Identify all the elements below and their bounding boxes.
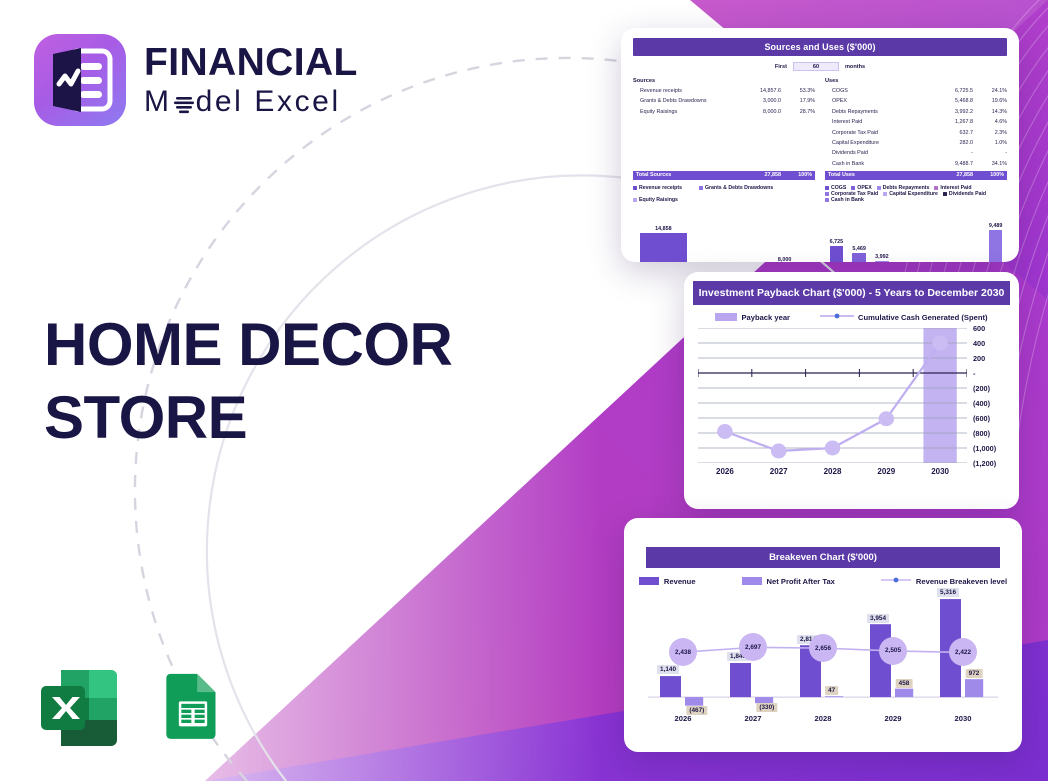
payback-x-tick: 2028 [806,467,860,476]
card-investment-payback: Investment Payback Chart ($'000) - 5 Yea… [684,272,1019,509]
uses-bar-label: 9,489 [989,223,1003,229]
uses-bar: 6,725 [830,234,844,262]
uses-legend-swatch [934,186,938,190]
uses-bar-bar [830,246,844,262]
sources-row-value: 8,000.0 [735,107,781,117]
uses-row: Interest Paid1,267.84.6% [825,117,1007,127]
uses-row-value: 282.0 [927,138,973,148]
breakeven-x-axis: 20262027202820292030 [648,714,998,723]
sources-total-label: Total Sources [633,171,735,180]
uses-legend-swatch [877,186,881,190]
uses-row: Corporate Tax Paid632.72.3% [825,128,1007,138]
breakeven-npat-label: 47 [825,686,838,695]
table-spacer [633,128,815,138]
sources-row: Equity Raisings8,000.028.7% [633,107,815,117]
breakeven-legend-swatch [639,577,659,585]
breakeven-legend-label: Net Profit After Tax [767,577,835,586]
uses-row-pct: 4.6% [973,117,1007,127]
page-title: HOME DECOR STORE [44,308,474,454]
uses-bar-chart: 6,7255,4693,9921,26863328209,489 [825,206,1007,262]
uses-bar: 9,489 [989,218,1003,262]
payback-legend: Payback yearCumulative Cash Generated (S… [684,312,1019,322]
card-sources-and-uses: Sources and Uses ($'000) First 60 months… [621,28,1019,262]
uses-row-name: Debts Repayments [825,107,927,117]
breakeven-legend-item: Net Profit After Tax [742,576,835,586]
sources-row-pct: 53.3% [781,86,815,96]
payback-y-tick: (1,000) [973,444,996,453]
sources-legend-item: Equity Raisings [633,197,678,203]
payback-y-tick: (600) [973,414,990,423]
uses-bar-label: 6,725 [830,239,844,245]
table-spacer [633,148,815,158]
breakeven-level-bubble: 2,438 [669,638,697,666]
uses-legend-swatch [825,186,829,190]
sources-legend-label: Revenue receipts [639,185,682,191]
sources-bar-label: 8,000 [761,257,808,262]
breakeven-level-bubble: 2,505 [879,637,907,665]
breakeven-legend: RevenueNet Profit After TaxRevenue Break… [624,576,1022,586]
breakeven-legend-item: Revenue [639,576,696,586]
sources-chart: Revenue receiptsGrants & Debts Drawdowns… [633,185,815,262]
payback-x-tick: 2029 [859,467,913,476]
uses-legend-item: Cash in Bank [825,197,864,203]
uses-row: Debts Repayments3,992.214.3% [825,107,1007,117]
google-sheets-icon[interactable] [153,660,233,761]
breakeven-npat-label: 972 [966,669,983,678]
payback-legend-item: Cumulative Cash Generated (Spent) [820,312,988,322]
payback-y-axis: 600400200-(200)(400)(600)(800)(1,000)(1,… [969,328,1015,463]
uses-total-value: 27,858 [927,171,973,180]
uses-row: Capital Expenditure282.01.0% [825,138,1007,148]
uses-legend-swatch [825,192,829,196]
uses-row-pct: 1.0% [973,138,1007,148]
uses-total-label: Total Uses [825,171,927,180]
uses-row-value: - [927,148,973,158]
payback-x-tick: 2030 [913,467,967,476]
breakeven-legend-label: Revenue [664,577,696,586]
breakeven-level-bubble: 2,656 [809,634,837,662]
breakeven-npat-label: (330) [756,703,777,712]
breakeven-revenue-label: 3,954 [867,614,889,623]
payback-y-tick: 200 [973,354,985,363]
payback-plot: 600400200-(200)(400)(600)(800)(1,000)(1,… [698,328,967,463]
payback-legend-swatch [820,312,854,322]
table-spacer [633,138,815,148]
uses-row: COGS6,725.524.1% [825,86,1007,96]
sources-bar-label: 14,858 [640,226,687,232]
sources-row-name: Revenue receipts [633,86,735,96]
uses-row-value: 6,725.5 [927,86,973,96]
payback-legend-label: Payback year [741,313,790,322]
sources-chart-legend: Revenue receiptsGrants & Debts Drawdowns… [633,185,815,203]
legend-gap [688,185,693,191]
sources-legend-item: Revenue receipts [633,185,682,191]
payback-legend-swatch [715,313,737,321]
breakeven-plot: 1,1401,8482,8143,9545,316(467)(330)47458… [648,592,998,710]
sources-bar-chart: 14,8585,0008,000 [633,208,815,262]
uses-legend-label: Capital Expenditure [889,191,938,197]
payback-x-axis: 20262027202820292030 [698,467,967,476]
uses-bar-label: 3,992 [875,254,889,260]
breakeven-x-tick: 2029 [858,714,928,723]
supported-apps [31,660,233,761]
sources-heading: Sources [633,78,815,84]
breakeven-npat-label: 458 [896,679,913,688]
table-spacer [633,117,815,127]
sources-total-value: 27,858 [735,171,781,180]
uses-chart: COGSOPEXDebts RepaymentsInterest PaidCor… [825,185,1007,262]
uses-legend-item: Capital Expenditure [883,191,938,197]
card-breakeven: Breakeven Chart ($'000) RevenueNet Profi… [624,518,1022,752]
uses-legend-label: Cash in Bank [831,197,864,203]
sources-legend-label: Grants & Debts Drawdowns [705,185,773,191]
legend-gap [684,197,689,203]
brand-line2-suffix: del Excel [196,87,341,117]
period-selector: First 60 months [633,62,1007,71]
uses-row-value: 1,267.8 [927,117,973,127]
sources-legend-swatch [633,186,637,190]
uses-legend-item: Dividends Paid [943,191,986,197]
uses-row-pct: 34.1% [973,159,1007,169]
payback-y-tick: (800) [973,429,990,438]
uses-row-name: Corporate Tax Paid [825,128,927,138]
brand-name-line1: FINANCIAL [144,43,358,82]
uses-row-value: 5,468.8 [927,96,973,106]
uses-row-value: 632.7 [927,128,973,138]
uses-row-name: Dividends Paid [825,148,927,158]
uses-bar: 5,469 [852,241,866,262]
sources-uses-tables: Sources Revenue receipts14,857.653.3%Gra… [633,78,1007,180]
payback-legend-item: Payback year [715,313,790,322]
uses-legend-swatch [851,186,855,190]
uses-row-value: 3,992.2 [927,107,973,117]
sources-row-pct: 28.7% [781,107,815,117]
sources-bar: 14,858 [640,221,687,262]
breakeven-legend-item: Revenue Breakeven level [881,576,1007,586]
breakeven-x-tick: 2027 [718,714,788,723]
uses-heading: Uses [825,78,1007,84]
uses-row-name: Cash in Bank [825,159,927,169]
legend-gap [864,197,869,203]
breakeven-x-tick: 2030 [928,714,998,723]
table-spacer [633,159,815,169]
uses-legend-swatch [825,198,829,202]
sources-uses-title: Sources and Uses ($'000) [633,38,1007,56]
uses-row: Cash in Bank9,488.734.1% [825,159,1007,169]
uses-table: Uses COGS6,725.524.1%OPEX5,468.819.6%Deb… [825,78,1007,180]
sources-table: Sources Revenue receipts14,857.653.3%Gra… [633,78,815,180]
payback-y-tick: (1,200) [973,459,996,468]
financial-model-excel-logo-icon [34,34,126,126]
brand-logo: FINANCIAL M del Excel [34,34,358,126]
sources-row-name: Equity Raisings [633,107,735,117]
payback-y-tick: 400 [973,339,985,348]
period-months-input[interactable]: 60 [793,62,839,71]
breakeven-legend-swatch [742,577,762,585]
sources-row-name: Grants & Debts Drawdowns [633,96,735,106]
uses-bar-bar [989,230,1003,262]
payback-title: Investment Payback Chart ($'000) - 5 Yea… [693,281,1010,305]
breakeven-title: Breakeven Chart ($'000) [646,547,1000,568]
sources-row-value: 14,857.6 [735,86,781,96]
breakeven-legend-label: Revenue Breakeven level [916,577,1007,586]
uses-bar: 3,992 [875,249,889,262]
sources-row: Grants & Debts Drawdowns3,000.017.9% [633,96,815,106]
brand-name-line2: M del Excel [144,87,358,117]
sources-bar: 8,000 [761,252,808,262]
sources-row-value: 3,000.0 [735,96,781,106]
uses-row-pct: 2.3% [973,128,1007,138]
uses-bar-bar [852,253,866,262]
uses-row: Dividends Paid-- [825,148,1007,158]
payback-x-tick: 2026 [698,467,752,476]
sources-legend-swatch [633,198,637,202]
legend-gap [779,185,784,191]
sources-legend-item: Grants & Debts Drawdowns [699,185,773,191]
breakeven-legend-swatch [881,576,911,586]
poster-canvas: FINANCIAL M del Excel HOME DECOR STORE [0,0,1048,781]
payback-y-tick: (400) [973,399,990,408]
uses-row: OPEX5,468.819.6% [825,96,1007,106]
microsoft-excel-icon[interactable] [31,660,127,761]
period-prefix-label: First [775,64,787,70]
uses-bar-label: 5,469 [852,246,866,252]
payback-y-tick: (200) [973,384,990,393]
payback-chart-svg [698,328,967,463]
uses-row-pct: - [973,148,1007,158]
breakeven-revenue-label: 1,140 [657,665,679,674]
breakeven-x-tick: 2028 [788,714,858,723]
period-suffix-label: months [845,64,865,70]
uses-row-pct: 19.6% [973,96,1007,106]
breakeven-revenue-label: 5,316 [937,588,959,597]
sources-legend-label: Equity Raisings [639,197,678,203]
uses-legend-label: Dividends Paid [949,191,986,197]
uses-chart-legend: COGSOPEXDebts RepaymentsInterest PaidCor… [825,185,1007,203]
payback-x-tick: 2027 [752,467,806,476]
sources-uses-charts: Revenue receiptsGrants & Debts Drawdowns… [633,185,1007,262]
breakeven-x-tick: 2026 [648,714,718,723]
legend-gap [986,191,991,197]
payback-legend-label: Cumulative Cash Generated (Spent) [858,313,988,322]
payback-y-tick: 600 [973,324,985,333]
uses-total-row: Total Uses 27,858 100% [825,171,1007,180]
sources-row-pct: 17.9% [781,96,815,106]
uses-total-pct: 100% [973,171,1007,180]
uses-bar-bar [875,261,889,262]
sources-legend-swatch [699,186,703,190]
brand-o-glyph-icon [172,89,196,115]
uses-row-value: 9,488.7 [927,159,973,169]
uses-row-name: COGS [825,86,927,96]
sources-bar-bar [640,233,687,262]
sources-total-row: Total Sources 27,858 100% [633,171,815,180]
sources-row: Revenue receipts14,857.653.3% [633,86,815,96]
uses-row-pct: 14.3% [973,107,1007,117]
uses-row-name: OPEX [825,96,927,106]
uses-legend-swatch [883,192,887,196]
payback-y-tick: - [973,369,975,378]
uses-row-name: Capital Expenditure [825,138,927,148]
breakeven-npat-label: (467) [686,706,707,715]
uses-legend-swatch [943,192,947,196]
uses-row-name: Interest Paid [825,117,927,127]
sources-total-pct: 100% [781,171,815,180]
brand-line2-prefix: M [144,87,172,117]
uses-row-pct: 24.1% [973,86,1007,96]
